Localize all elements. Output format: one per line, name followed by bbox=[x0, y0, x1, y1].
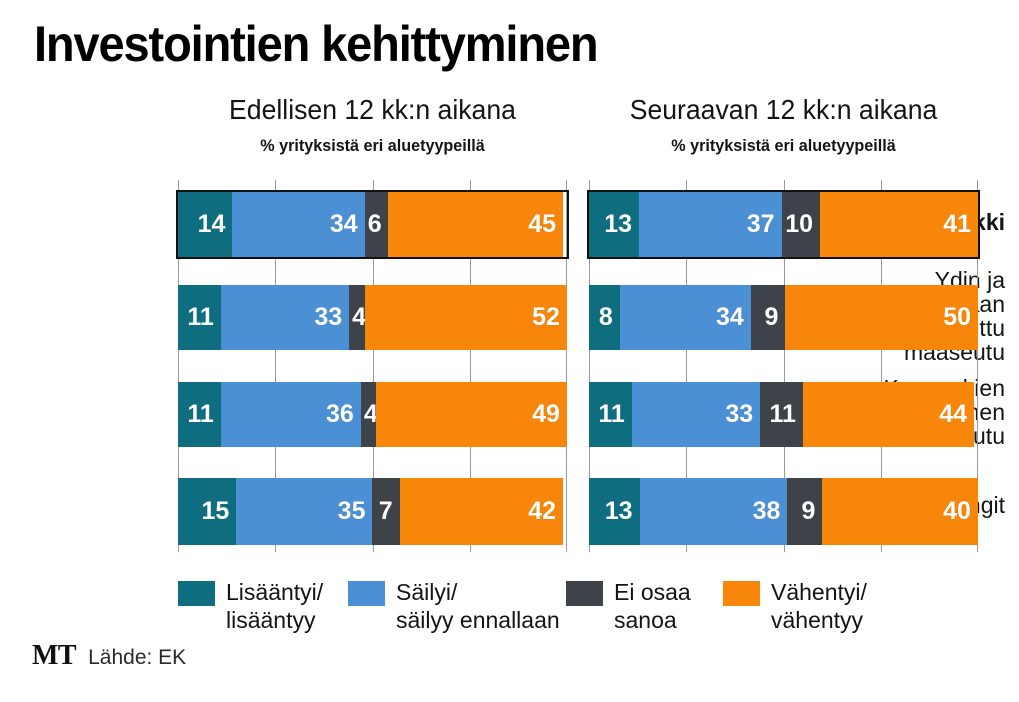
bar-segment-decrease: 49 bbox=[376, 382, 567, 447]
bar-segment-same: 34 bbox=[620, 285, 751, 350]
legend-label-decrease: Vähentyi/ vähentyy bbox=[771, 578, 867, 634]
bar-row: 1338940 bbox=[589, 478, 978, 545]
bar-value-label: 49 bbox=[532, 402, 567, 427]
bar-value-label: 40 bbox=[943, 499, 978, 524]
bar-segment-increase: 13 bbox=[589, 192, 639, 257]
bar-segment-increase: 15 bbox=[178, 478, 236, 545]
bar-value-label: 33 bbox=[314, 305, 349, 330]
bar-value-label: 13 bbox=[605, 499, 640, 524]
mt-logo: MT bbox=[32, 640, 76, 672]
chart-panel-previous-12-months: 1434645113345211364491535742 bbox=[178, 180, 567, 552]
bar-value-label: 4 bbox=[361, 402, 378, 427]
bar-value-label: 11 bbox=[187, 402, 220, 427]
legend-swatch-same bbox=[348, 581, 385, 606]
bar-value-label: 42 bbox=[528, 499, 563, 524]
panel-header-left: Edellisen 12 kk:n aikana % yrityksistä e… bbox=[178, 95, 567, 156]
bar-value-label: 8 bbox=[599, 305, 620, 330]
page-title: Investointien kehittyminen bbox=[34, 18, 598, 71]
legend-item-decrease[interactable]: Vähentyi/ vähentyy bbox=[723, 578, 867, 634]
bar-segment-dont-know: 6 bbox=[365, 192, 388, 257]
bar-value-label: 9 bbox=[765, 305, 786, 330]
bar-value-label: 33 bbox=[725, 402, 760, 427]
bar-value-label: 13 bbox=[604, 212, 639, 237]
bar-value-label: 11 bbox=[769, 402, 802, 427]
bar-value-label: 36 bbox=[326, 402, 361, 427]
bar-value-label: 6 bbox=[365, 212, 382, 237]
bar-value-label: 10 bbox=[785, 212, 820, 237]
bar-value-label: 15 bbox=[202, 499, 237, 524]
bar-row: 11331144 bbox=[589, 382, 978, 447]
legend-label-dont-know: Ei osaa sanoa bbox=[614, 578, 691, 634]
bar-value-label: 44 bbox=[939, 402, 974, 427]
legend-swatch-increase bbox=[178, 581, 215, 606]
bar-value-label: 11 bbox=[598, 402, 631, 427]
bar-segment-decrease: 42 bbox=[400, 478, 563, 545]
bar-segment-dont-know: 4 bbox=[361, 382, 377, 447]
bar-row: 1136449 bbox=[178, 382, 567, 447]
bar-segment-dont-know: 9 bbox=[751, 285, 786, 350]
bar-segment-decrease: 52 bbox=[365, 285, 567, 350]
bar-segment-increase: 8 bbox=[589, 285, 620, 350]
bar-segment-decrease: 50 bbox=[785, 285, 978, 350]
bar-value-label: 38 bbox=[753, 499, 788, 524]
bar-segment-same: 33 bbox=[221, 285, 349, 350]
bar-segment-decrease: 40 bbox=[822, 478, 978, 545]
bar-segment-dont-know: 10 bbox=[782, 192, 821, 257]
bar-value-label: 34 bbox=[716, 305, 751, 330]
bar-segment-increase: 14 bbox=[178, 192, 232, 257]
bar-value-label: 7 bbox=[379, 499, 400, 524]
panel-title-left: Edellisen 12 kk:n aikana bbox=[188, 95, 558, 126]
bar-segment-dont-know: 4 bbox=[349, 285, 365, 350]
legend-item-dont-know[interactable]: Ei osaa sanoa bbox=[566, 578, 691, 634]
bar-segment-dont-know: 9 bbox=[787, 478, 822, 545]
panel-subtitle-left: % yrityksistä eri aluetyypeillä bbox=[188, 136, 558, 156]
legend-label-increase: Lisääntyi/ lisääntyy bbox=[226, 578, 323, 634]
bar-segment-decrease: 44 bbox=[803, 382, 974, 447]
legend-item-same[interactable]: Säilyi/ säilyy ennallaan bbox=[348, 578, 560, 634]
legend-item-increase[interactable]: Lisääntyi/ lisääntyy bbox=[178, 578, 323, 634]
footer: MT Lähde: EK bbox=[32, 640, 186, 672]
legend-swatch-decrease bbox=[723, 581, 760, 606]
legend-label-same: Säilyi/ säilyy ennallaan bbox=[396, 578, 560, 634]
bar-value-label: 34 bbox=[330, 212, 365, 237]
bar-segment-same: 33 bbox=[632, 382, 760, 447]
bar-value-label: 37 bbox=[747, 212, 782, 237]
bar-segment-increase: 11 bbox=[589, 382, 632, 447]
chart-legend: Lisääntyi/ lisääntyySäilyi/ säilyy ennal… bbox=[178, 578, 998, 648]
bar-value-label: 50 bbox=[943, 305, 978, 330]
bar-row: 1434645 bbox=[178, 192, 567, 257]
bar-value-label: 41 bbox=[943, 212, 978, 237]
legend-swatch-dont-know bbox=[566, 581, 603, 606]
bar-segment-increase: 13 bbox=[589, 478, 640, 545]
bar-segment-same: 36 bbox=[221, 382, 361, 447]
panel-title-right: Seuraavan 12 kk:n aikana bbox=[599, 95, 969, 126]
bar-value-label: 45 bbox=[528, 212, 563, 237]
bar-segment-same: 37 bbox=[639, 192, 782, 257]
chart-panel-next-12-months: 13371041834950113311441338940 bbox=[589, 180, 978, 552]
bar-segment-dont-know: 11 bbox=[760, 382, 803, 447]
bar-value-label: 4 bbox=[349, 305, 366, 330]
bar-segment-increase: 11 bbox=[178, 382, 221, 447]
bar-row: 834950 bbox=[589, 285, 978, 350]
panel-subtitle-right: % yrityksistä eri aluetyypeillä bbox=[599, 136, 969, 156]
bar-segment-same: 34 bbox=[232, 192, 364, 257]
bar-value-label: 35 bbox=[338, 499, 373, 524]
panel-header-right: Seuraavan 12 kk:n aikana % yrityksistä e… bbox=[589, 95, 978, 156]
bar-segment-dont-know: 7 bbox=[372, 478, 399, 545]
bar-row: 13371041 bbox=[589, 192, 978, 257]
bar-segment-decrease: 41 bbox=[820, 192, 978, 257]
bar-segment-increase: 11 bbox=[178, 285, 221, 350]
bar-row: 1133452 bbox=[178, 285, 567, 350]
bar-value-label: 52 bbox=[532, 305, 567, 330]
bar-segment-decrease: 45 bbox=[388, 192, 563, 257]
bar-value-label: 14 bbox=[198, 212, 233, 237]
bar-row: 1535742 bbox=[178, 478, 567, 545]
bar-segment-same: 38 bbox=[640, 478, 788, 545]
bar-segment-same: 35 bbox=[236, 478, 372, 545]
source-label: Lähde: EK bbox=[88, 646, 186, 670]
bar-value-label: 9 bbox=[801, 499, 822, 524]
bar-value-label: 11 bbox=[187, 305, 220, 330]
